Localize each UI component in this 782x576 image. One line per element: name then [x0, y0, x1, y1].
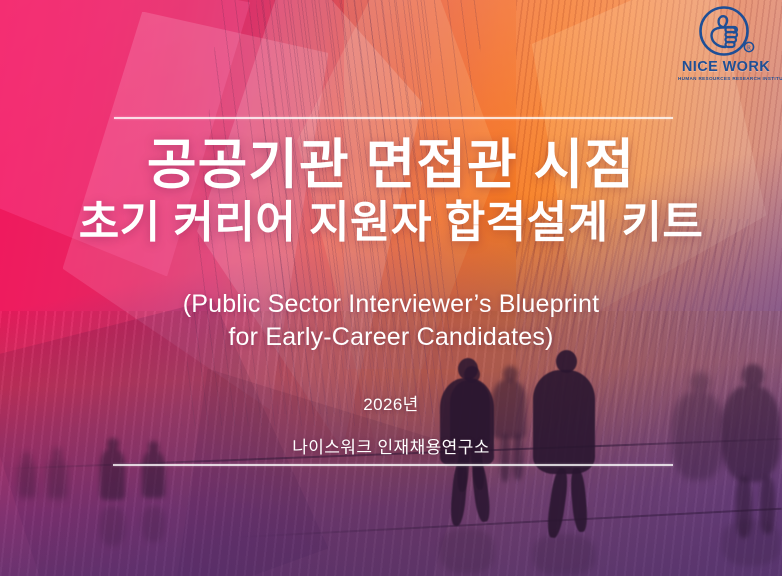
thumbs-up-icon: R	[697, 6, 755, 59]
divider-bottom	[113, 464, 673, 466]
slide-content: 공공기관 면접관 시점 초기 커리어 지원자 합격설계 키트 (Public S…	[0, 0, 782, 576]
divider-top	[114, 117, 673, 119]
subtitle-block: (Public Sector Interviewer’s Blueprint f…	[0, 288, 782, 353]
title-block: 공공기관 면접관 시점 초기 커리어 지원자 합격설계 키트	[0, 136, 782, 250]
logo-tagline: HUMAN RESOURCES RESEARCH INSTITUTE	[678, 77, 774, 82]
brand-logo: R NICE WORK HUMAN RESOURCES RESEARCH INS…	[678, 6, 774, 86]
organization-name: 나이스워크 인재채용연구소	[0, 433, 782, 458]
logo-wordmark: NICE WORK	[678, 60, 774, 75]
subtitle-line-1: (Public Sector Interviewer’s Blueprint	[0, 288, 782, 321]
meta-block: 2026년 나이스워크 인재채용연구소	[0, 390, 782, 458]
subtitle-line-2: for Early-Career Candidates)	[0, 321, 782, 354]
page-title-line-2: 초기 커리어 지원자 합격설계 키트	[0, 196, 782, 250]
publication-year: 2026년	[0, 390, 782, 415]
svg-text:R: R	[747, 46, 751, 52]
presentation-cover-slide: 공공기관 면접관 시점 초기 커리어 지원자 합격설계 키트 (Public S…	[0, 0, 782, 576]
page-title-line-1: 공공기관 면접관 시점	[0, 136, 782, 194]
